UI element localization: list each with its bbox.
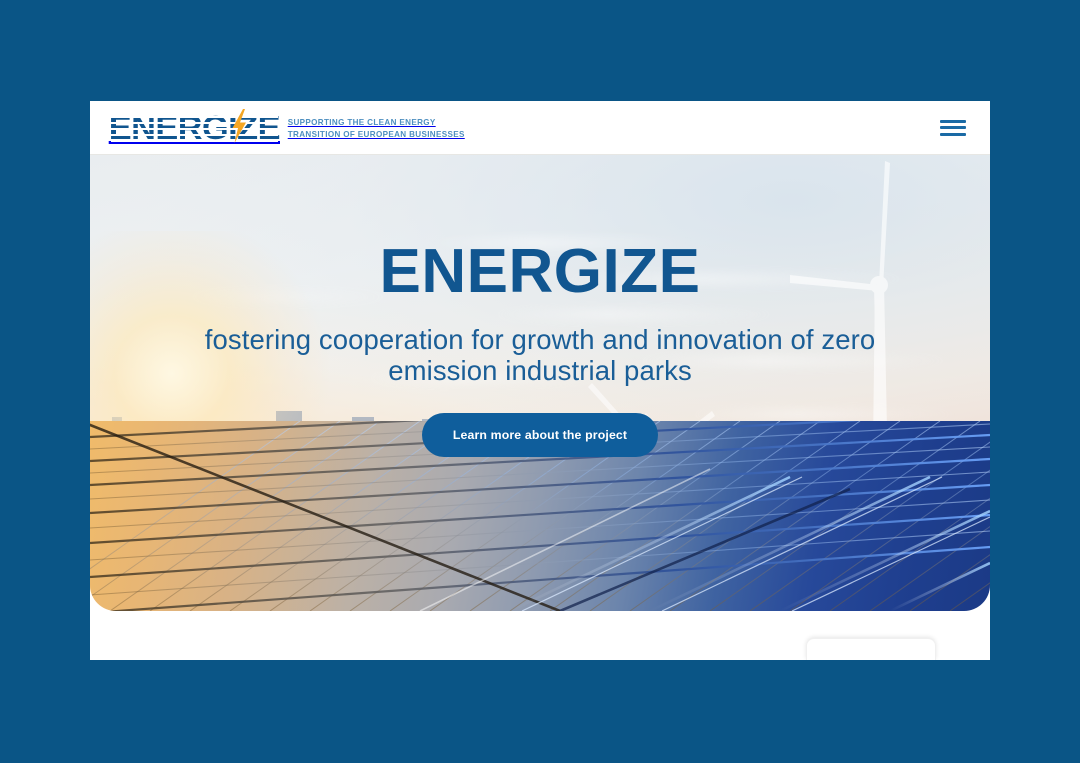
hero-content: ENERGIZE fostering cooperation for growt… xyxy=(90,155,990,457)
hamburger-line-3 xyxy=(940,133,966,136)
lightning-bolt-icon xyxy=(231,109,247,143)
hamburger-menu-icon[interactable] xyxy=(940,118,966,138)
logo-tagline: SUPPORTING THE CLEAN ENERGY TRANSITION O… xyxy=(288,115,465,140)
hamburger-line-2 xyxy=(940,126,966,129)
logo-wordmark-text: ENERGIZE xyxy=(109,111,280,144)
hero-subtitle: fostering cooperation for growth and inn… xyxy=(175,325,905,387)
brand-logo-link[interactable]: ENERGIZE SUPPORTING THE CLEAN ENERGY TRA… xyxy=(112,111,465,144)
browser-window: ENERGIZE SUPPORTING THE CLEAN ENERGY TRA… xyxy=(90,101,990,660)
hamburger-line-1 xyxy=(940,120,966,123)
learn-more-button[interactable]: Learn more about the project xyxy=(422,413,658,457)
page-body-below-hero xyxy=(90,611,990,660)
logo-wordmark: ENERGIZE xyxy=(112,111,277,144)
cookie-consent-widget[interactable] xyxy=(806,638,936,660)
site-header: ENERGIZE SUPPORTING THE CLEAN ENERGY TRA… xyxy=(90,101,990,155)
hero-title: ENERGIZE xyxy=(90,241,990,303)
hero-section: ENERGIZE fostering cooperation for growt… xyxy=(90,155,990,611)
